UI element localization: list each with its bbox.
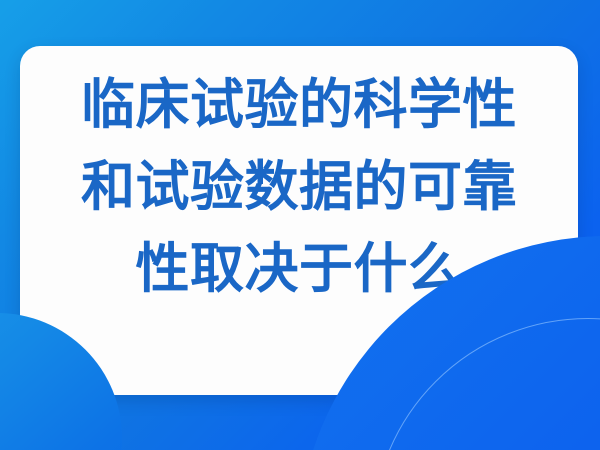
poster-root: 临床试验的科学性 和试验数据的可靠 性取决于什么 (0, 0, 600, 450)
content-card (20, 46, 578, 395)
